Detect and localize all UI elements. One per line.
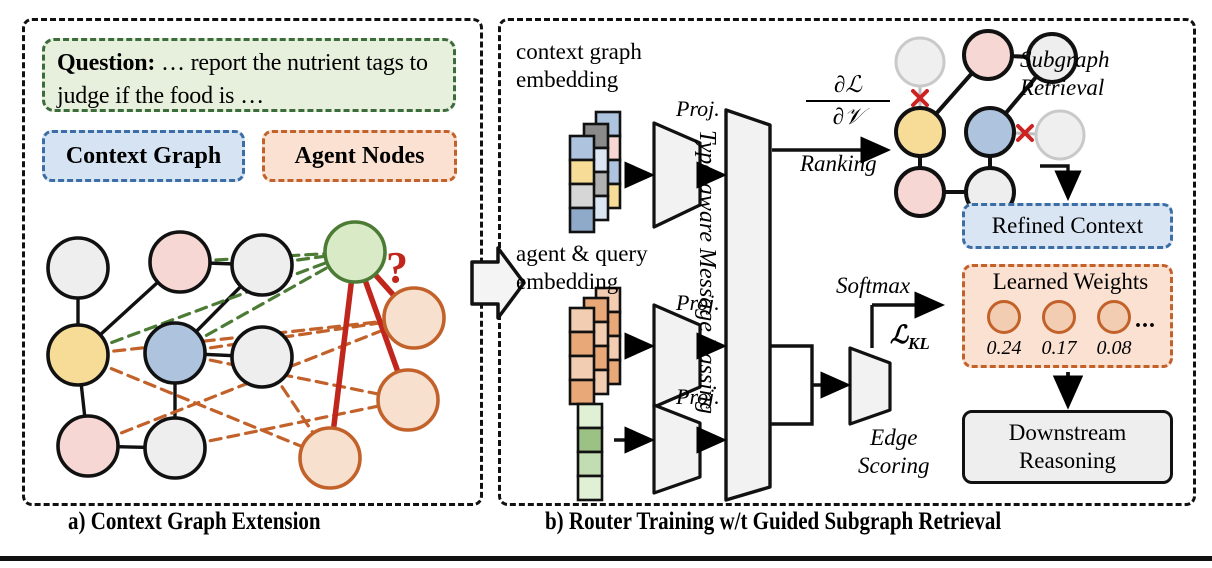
legend-agent-nodes: Agent Nodes	[262, 130, 457, 182]
query-embedding-stack	[578, 404, 602, 500]
context-graph-nodes	[48, 232, 292, 478]
weight-value-2: 0.17	[1032, 337, 1086, 360]
kl-loss-label: ℒKL	[890, 320, 930, 354]
kl-loss-subscript: KL	[908, 334, 930, 353]
weight-value-3: 0.08	[1087, 337, 1141, 360]
weight-circle-2	[1042, 300, 1076, 334]
caption-panel-b: b) Router Training w/t Guided Subgraph R…	[545, 508, 1001, 536]
query-question-mark: ?	[386, 243, 408, 292]
proj-label-context: Proj.	[676, 96, 720, 122]
refined-context-label: Refined Context	[992, 213, 1143, 239]
legend-context-label: Context Graph	[66, 143, 221, 170]
question-box: Question: … report the nutrient tags to …	[42, 38, 456, 112]
edge-scoring-label: Edge Scoring	[858, 424, 930, 480]
svg-text:?: ?	[386, 243, 408, 292]
message-passing-block	[726, 110, 770, 500]
caption-panel-a: a) Context Graph Extension	[68, 508, 321, 536]
weights-ellipsis: ...	[1135, 307, 1156, 334]
gradient-numerator: ∂ℒ	[800, 72, 896, 98]
softmax-label: Softmax	[836, 272, 910, 300]
weight-value-1: 0.24	[977, 337, 1031, 360]
figure-architecture-diagram: ? Question: … report the nutrient tags t…	[0, 0, 1212, 568]
weight-circle-1	[987, 300, 1021, 334]
question-label: Question:	[57, 50, 155, 76]
legend-context-graph: Context Graph	[42, 130, 245, 182]
context-embedding-stack	[570, 112, 620, 232]
learned-weights-box: Learned Weights 0.24 0.17 0.08 ...	[962, 264, 1173, 368]
subgraph-retrieval-label: Subgraph Retrieval	[1020, 46, 1109, 102]
agent-nodes	[300, 288, 444, 488]
message-passing-label: Type-aware Message Passing	[680, 130, 720, 460]
bottom-rule	[0, 556, 1212, 561]
weight-circle-3	[1097, 300, 1131, 334]
query-node	[325, 222, 385, 282]
downstream-reasoning-label: Downstream Reasoning	[965, 419, 1170, 475]
learned-weights-title: Learned Weights	[965, 269, 1176, 295]
gradient-denominator: ∂𝒱	[800, 104, 896, 130]
kl-loss-symbol: ℒ	[890, 322, 908, 349]
gradient-notation: ∂ℒ ∂𝒱	[800, 72, 896, 130]
refined-context-box: Refined Context	[962, 203, 1173, 249]
subgraph-to-refined-arrow	[1040, 166, 1068, 196]
ranking-label: Ranking	[800, 150, 877, 178]
downstream-reasoning-box: Downstream Reasoning	[962, 410, 1173, 484]
edge-scoring-block	[850, 348, 890, 424]
context-embedding-label: context graph embedding	[516, 38, 642, 94]
legend-agent-label: Agent Nodes	[295, 143, 425, 170]
agent-query-embedding-label: agent & query embedding	[516, 240, 648, 296]
agent-embedding-stack	[570, 288, 620, 404]
fraction-bar	[806, 100, 890, 102]
